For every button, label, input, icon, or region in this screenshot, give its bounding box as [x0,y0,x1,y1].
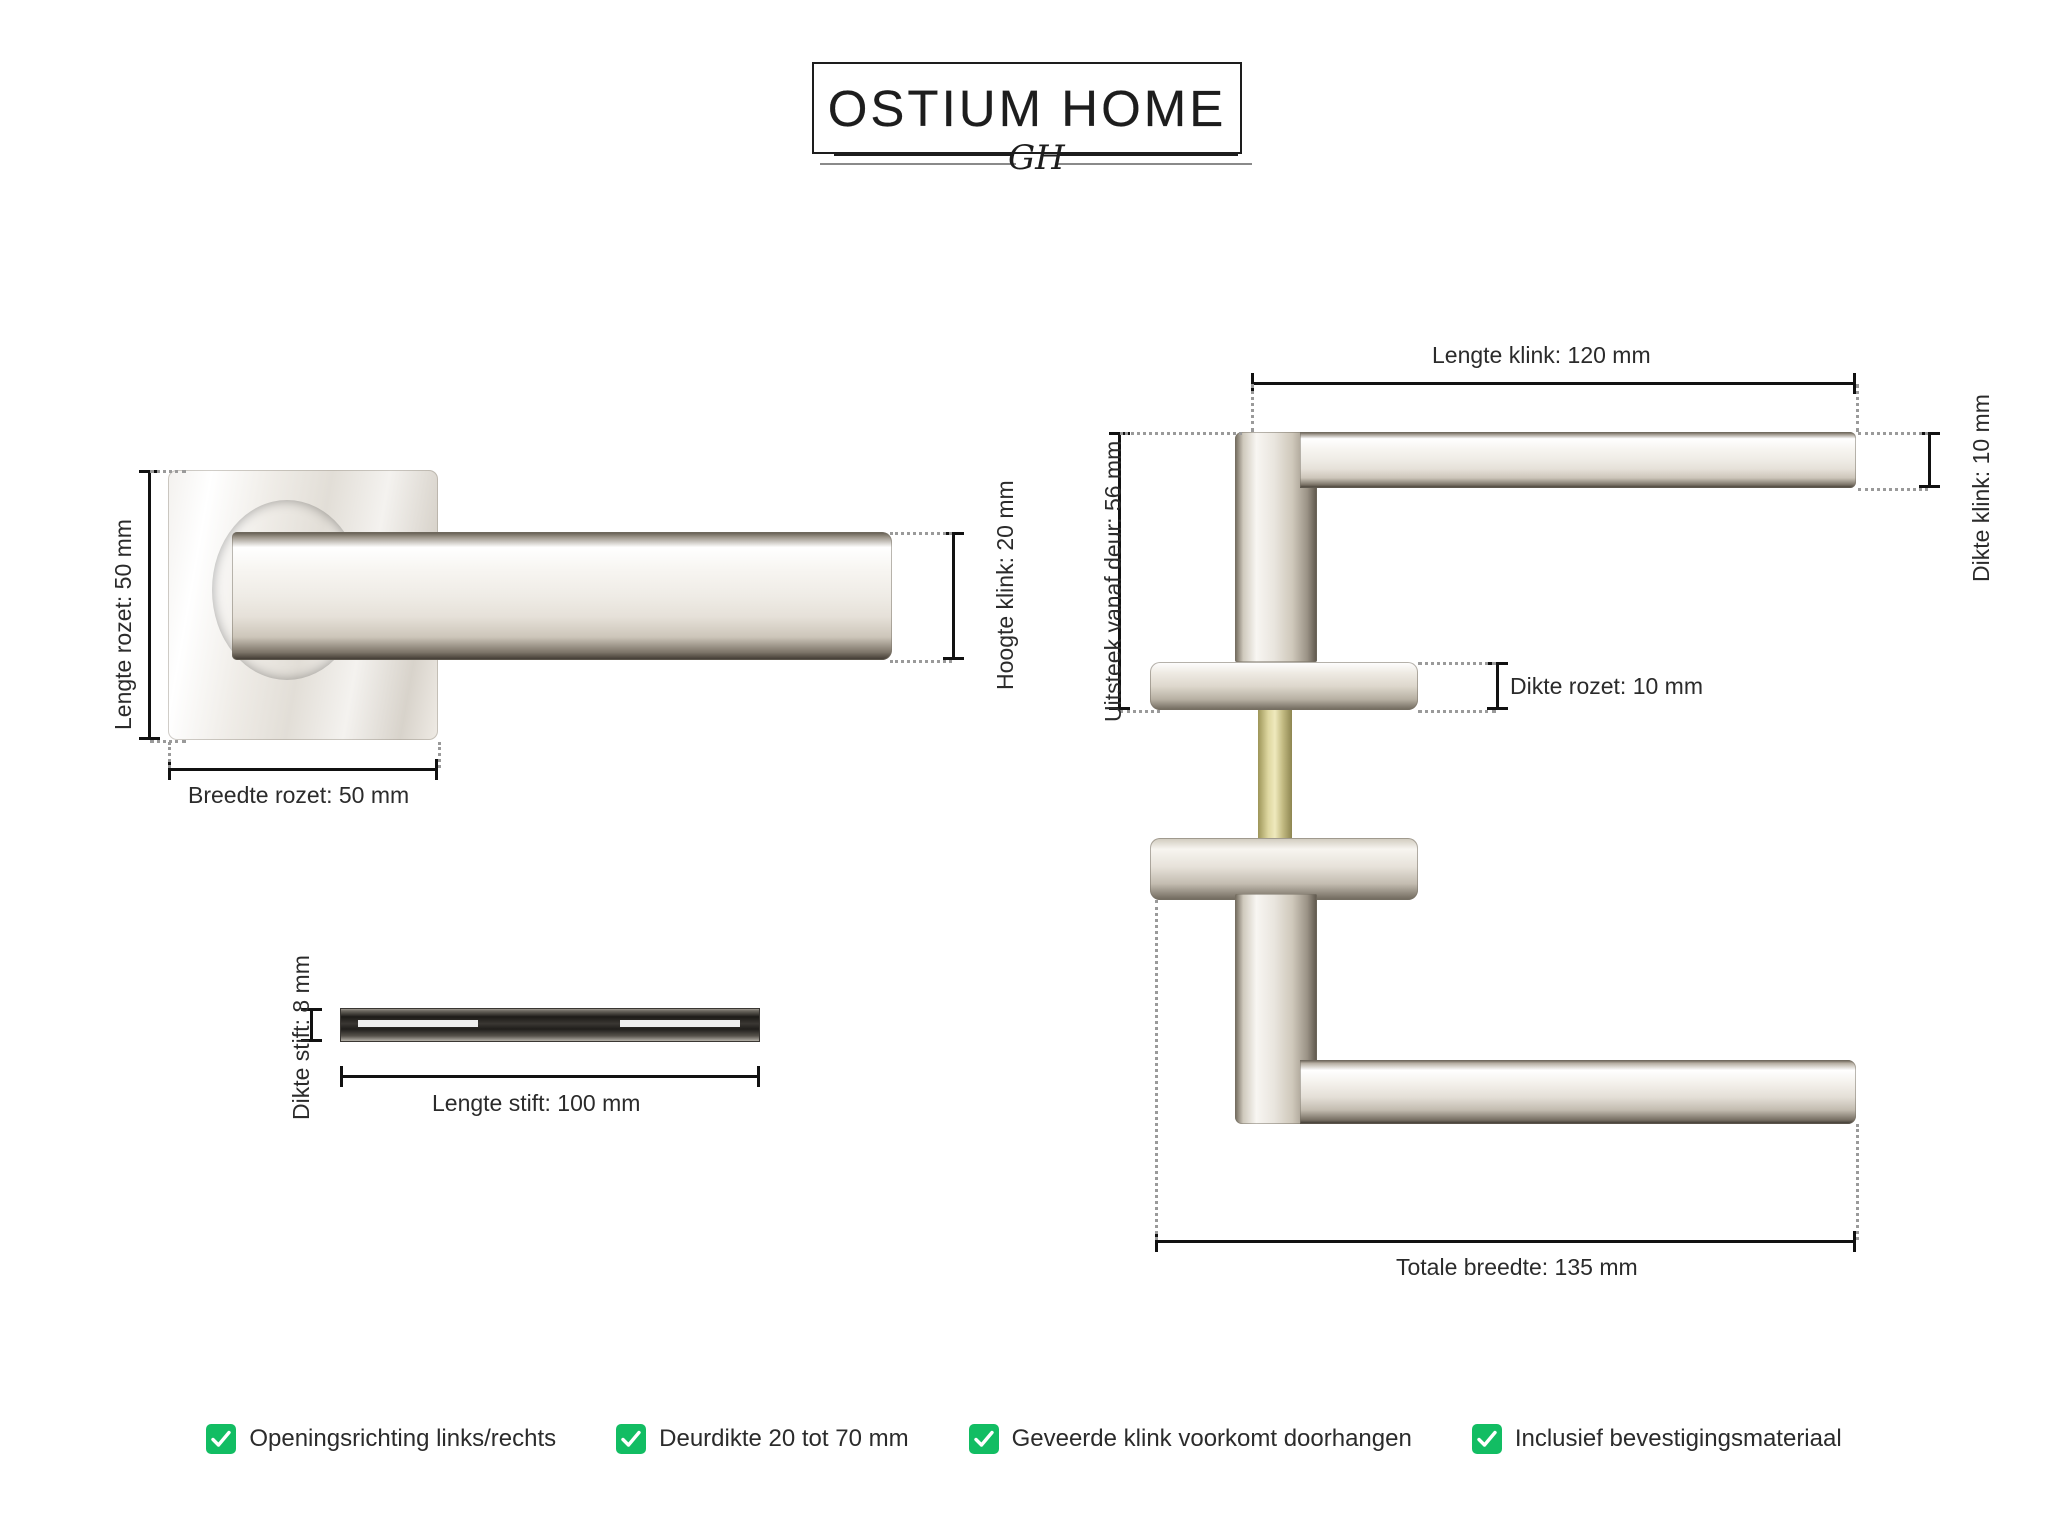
feature-label: Deurdikte 20 tot 70 mm [659,1425,908,1453]
leader-projection-top [1120,432,1242,435]
dim-label-projection: Uitsteek vanaf deur: 56 mm [1100,441,1127,722]
dim-label-total-width: Totale breedte: 135 mm [1396,1254,1638,1281]
dim-label-lever-thickness: Dikte klink: 10 mm [1968,394,1995,582]
leader-total-width-left [1155,900,1158,1240]
dim-label-lever-length: Lengte klink: 120 mm [1432,342,1651,369]
dim-line-spindle-length [340,1075,760,1078]
feature-item: Geveerde klink voorkomt doorhangen [969,1424,1412,1454]
logo-rule-right-lower [1056,163,1252,165]
leader-rosette-height-top [150,470,186,473]
dim-line-rosette-width [168,768,438,771]
dim-label-rosette-width: Breedte rozet: 50 mm [188,782,409,809]
spindle-slot-right [620,1020,740,1027]
logo-rule-left-lower [820,163,1016,165]
dim-line-rosette-height [148,470,151,740]
leader-lever-thickness-bottom [1858,488,1928,491]
dim-label-rosette-height: Lengte rozet: 50 mm [110,519,137,730]
leader-lever-height-top [890,532,952,535]
feature-list: Openingsrichting links/rechts Deurdikte … [0,1424,2048,1454]
dim-label-spindle-thickness: Dikte stift: 8 mm [288,955,315,1120]
dim-line-rosette-thickness [1496,662,1499,710]
leader-rosette-thickness-top [1418,662,1496,665]
leader-lever-length-right [1856,384,1859,432]
leader-lever-thickness-top [1858,432,1928,435]
logo-rule-right-upper [1058,154,1238,156]
check-icon [1472,1424,1502,1454]
check-icon [969,1424,999,1454]
dim-line-lever-height [952,532,955,660]
side-lower-lever-arm [1300,1060,1856,1124]
leader-total-width-right [1856,1124,1859,1240]
leader-rosette-width-left [168,742,171,768]
dim-label-rosette-thickness: Dikte rozet: 10 mm [1510,673,1703,700]
leader-lever-height-bottom [890,660,952,663]
spindle-slot-left [358,1020,478,1027]
dim-line-lever-length [1251,382,1856,385]
feature-item: Deurdikte 20 tot 70 mm [616,1424,908,1454]
logo-monogram: GH [1008,138,1064,178]
dim-label-lever-height: Hoogte klink: 20 mm [992,480,1019,690]
dim-line-total-width [1155,1240,1856,1243]
logo-rule-left-upper [834,154,1014,156]
side-upper-lever-arm [1300,432,1856,488]
front-lever-bar [232,532,892,660]
side-upper-rosette [1150,662,1418,710]
brand-logo: OSTIUM HOME GH [812,62,1252,192]
feature-label: Openingsrichting links/rechts [249,1425,556,1453]
leader-lever-length-left [1251,384,1254,432]
check-icon [206,1424,236,1454]
dim-label-spindle-length: Lengte stift: 100 mm [432,1090,640,1117]
check-icon [616,1424,646,1454]
dim-line-lever-thickness [1928,432,1931,488]
leader-rosette-width-right [438,742,441,768]
feature-item: Inclusief bevestigingsmateriaal [1472,1424,1842,1454]
side-lower-rosette [1150,838,1418,900]
feature-label: Inclusief bevestigingsmateriaal [1515,1425,1842,1453]
leader-rosette-thickness-bottom [1418,710,1496,713]
feature-label: Geveerde klink voorkomt doorhangen [1012,1425,1412,1453]
side-spindle [1258,710,1292,838]
feature-item: Openingsrichting links/rechts [206,1424,556,1454]
